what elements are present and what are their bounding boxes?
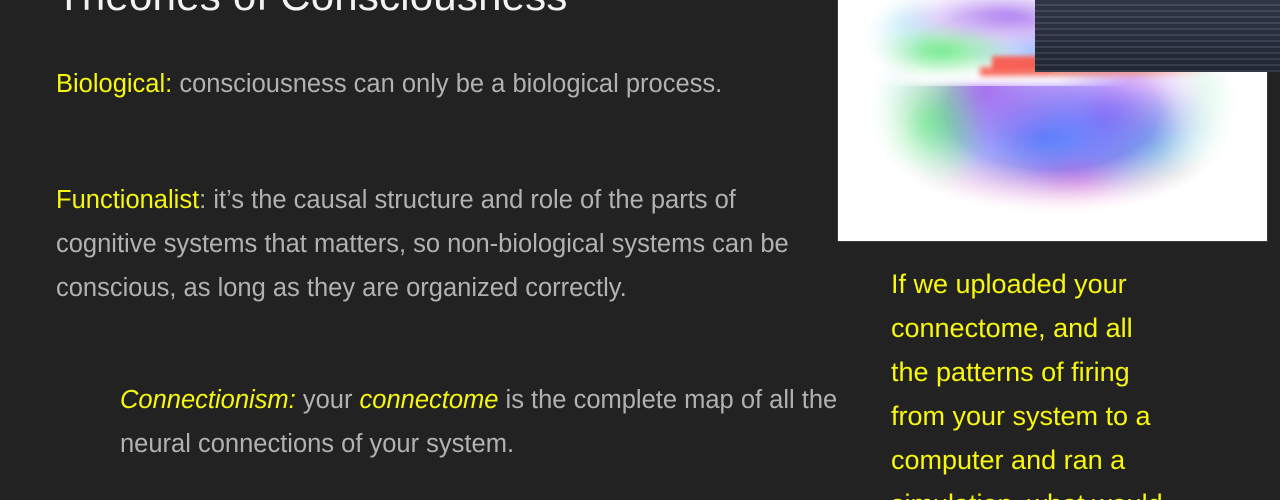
caption-line: from your system to a: [891, 394, 1221, 438]
slide-text-column: Theories of Consciousness Biological: co…: [0, 0, 850, 500]
bullet-connectionism: Connectionism: your connectome is the co…: [120, 378, 840, 466]
page-title: Theories of Consciousness: [56, 0, 836, 22]
figure-caption: If we uploaded your connectome, and all …: [891, 262, 1221, 500]
bullet-connectionism-keyword: Connectionism:: [120, 386, 296, 414]
bullet-functionalist: Functionalist: it’s the causal structure…: [56, 178, 826, 310]
slide-screen: Theories of Consciousness Biological: co…: [0, 0, 1280, 500]
bullet-biological: Biological: consciousness can only be a …: [56, 62, 826, 106]
caption-line: computer and ran a: [891, 438, 1221, 482]
caption-line: simulation, what would: [891, 482, 1221, 500]
presenter-shirt: [1035, 0, 1280, 72]
bullet-functionalist-keyword: Functionalist: [56, 186, 199, 214]
bullet-connectionism-text-before: your: [296, 386, 360, 414]
bullet-biological-keyword: Biological:: [56, 70, 172, 98]
bullet-connectionism-emphasis: connectome: [360, 386, 499, 414]
caption-line: If we uploaded your: [891, 262, 1221, 306]
presenter-webcam-overlay[interactable]: [1035, 0, 1280, 72]
caption-line: the patterns of firing: [891, 350, 1221, 394]
caption-line: connectome, and all: [891, 306, 1221, 350]
bullet-biological-text: consciousness can only be a biological p…: [172, 70, 722, 98]
